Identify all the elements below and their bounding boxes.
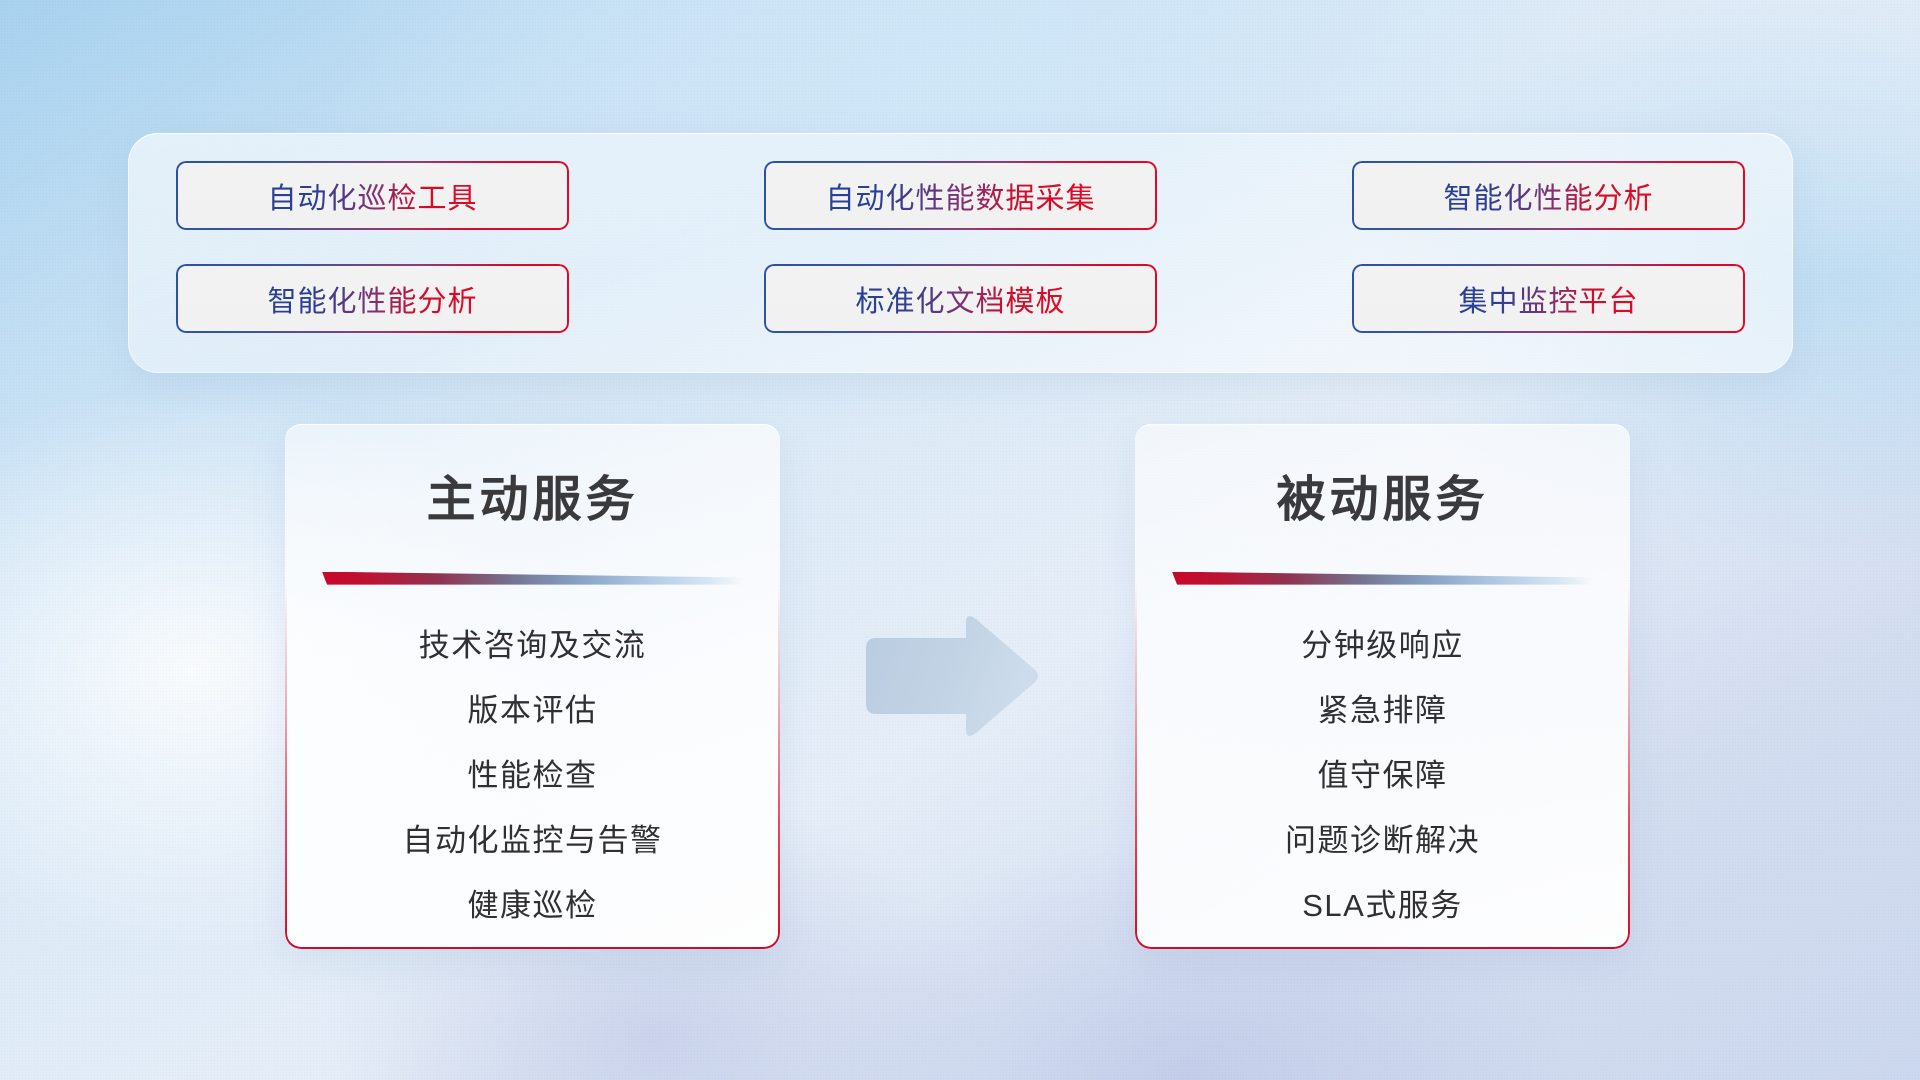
capabilities-panel: 自动化巡检工具 自动化性能数据采集 智能化性能分析 智能化性能分析 标准化文档模… [128, 133, 1793, 373]
service-list-item: 技术咨询及交流 [285, 613, 780, 678]
service-card-title: 被动服务 [1135, 460, 1630, 531]
capability-chip-label: 自动化巡检工具 [267, 175, 477, 217]
capability-chip-intelligent-performance-analysis-b[interactable]: 智能化性能分析 [176, 264, 569, 333]
capability-chip-label: 标准化文档模板 [855, 278, 1065, 320]
service-list-item: SLA式服务 [1135, 873, 1630, 938]
service-list-item: 值守保障 [1135, 743, 1630, 808]
capability-chip-label: 智能化性能分析 [267, 278, 477, 320]
capability-chip-automated-inspection-tool[interactable]: 自动化巡检工具 [176, 161, 569, 230]
service-card-title: 主动服务 [285, 460, 780, 531]
service-list-item: 健康巡检 [285, 873, 780, 938]
capability-chip-label: 集中监控平台 [1458, 278, 1638, 320]
diagram-canvas: 自动化巡检工具 自动化性能数据采集 智能化性能分析 智能化性能分析 标准化文档模… [0, 0, 1920, 1080]
title-divider-rule [1172, 572, 1593, 585]
service-item-list: 分钟级响应 紧急排障 值守保障 问题诊断解决 SLA式服务 [1135, 613, 1630, 938]
service-list-item: 紧急排障 [1135, 678, 1630, 743]
service-list-item: 分钟级响应 [1135, 613, 1630, 678]
service-card-reactive: 被动服务 分钟级响应 紧急排障 值守保障 问题诊断解决 SLA式服务 [1135, 424, 1630, 949]
service-list-item: 自动化监控与告警 [285, 808, 780, 873]
capability-chip-automated-performance-data-collection[interactable]: 自动化性能数据采集 [764, 161, 1157, 230]
capability-chip-intelligent-performance-analysis-a[interactable]: 智能化性能分析 [1352, 161, 1745, 230]
service-list-item: 性能检查 [285, 743, 780, 808]
capability-chip-grid: 自动化巡检工具 自动化性能数据采集 智能化性能分析 智能化性能分析 标准化文档模… [176, 161, 1745, 345]
capability-chip-standardized-document-template[interactable]: 标准化文档模板 [764, 264, 1157, 333]
capability-chip-label: 自动化性能数据采集 [825, 175, 1095, 217]
capability-chip-label: 智能化性能分析 [1443, 175, 1653, 217]
flow-arrow-right-icon [862, 612, 1040, 742]
service-item-list: 技术咨询及交流 版本评估 性能检查 自动化监控与告警 健康巡检 [285, 613, 780, 938]
title-divider-rule [322, 572, 743, 585]
service-list-item: 版本评估 [285, 678, 780, 743]
service-list-item: 问题诊断解决 [1135, 808, 1630, 873]
service-card-proactive: 主动服务 技术咨询及交流 版本评估 性能检查 自动化监控与告警 健康巡检 [285, 424, 780, 949]
capability-chip-centralized-monitoring-platform[interactable]: 集中监控平台 [1352, 264, 1745, 333]
